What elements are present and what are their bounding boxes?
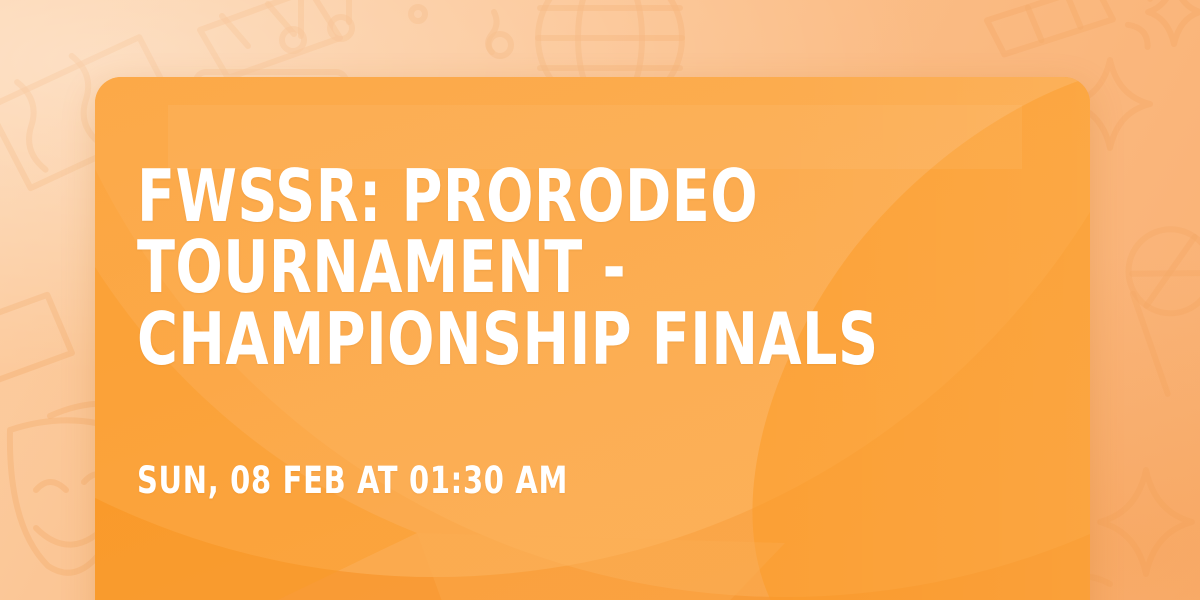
event-card[interactable]: FWSSR: PRORODEO TOURNAMENT - CHAMPIONSHI…	[95, 77, 1090, 600]
page-title: FWSSR: PRORODEO TOURNAMENT - CHAMPIONSHI…	[137, 161, 937, 375]
card-content: FWSSR: PRORODEO TOURNAMENT - CHAMPIONSHI…	[137, 77, 1077, 600]
event-datetime: SUN, 08 FEB AT 01:30 AM	[137, 462, 568, 499]
event-banner: FWSSR: PRORODEO TOURNAMENT - CHAMPIONSHI…	[0, 0, 1200, 600]
